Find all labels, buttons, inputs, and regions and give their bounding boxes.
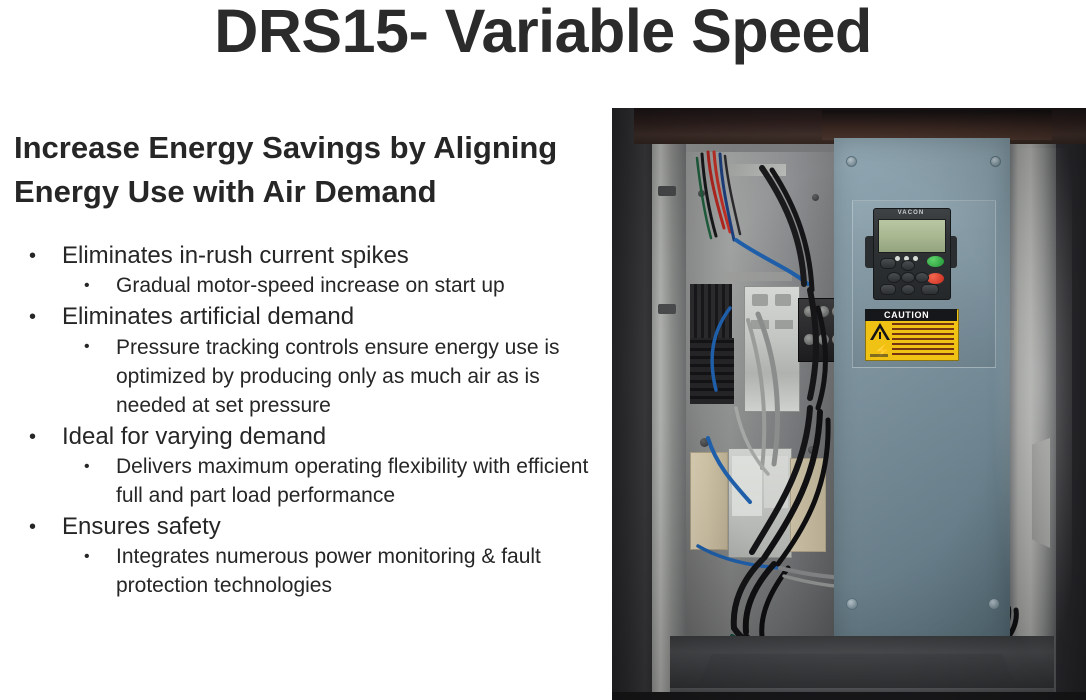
list-item: • Ensures safety	[14, 511, 600, 543]
list-item-label: Pressure tracking controls ensure energy…	[116, 334, 600, 421]
nav-up-button[interactable]	[901, 260, 915, 271]
nav-enter-button[interactable]	[901, 272, 915, 283]
list-item: • Eliminates in-rush current spikes	[14, 240, 600, 272]
list-item-label: Ensures safety	[62, 511, 600, 543]
function-right-button[interactable]	[921, 284, 939, 295]
list-item: • Eliminates artificial demand	[14, 301, 600, 333]
list-item-label: Eliminates in-rush current spikes	[62, 240, 600, 272]
warning-exclamation-icon	[879, 332, 881, 339]
list-item: • Delivers maximum operating flexibility…	[14, 453, 600, 511]
bullet-point-icon: •	[29, 517, 36, 537]
cabinet-bottom-shadow	[612, 692, 1086, 700]
bullet-point-icon: •	[29, 307, 36, 327]
nav-left-button[interactable]	[887, 272, 901, 283]
vfd-screw	[846, 598, 858, 610]
list-item: • Gradual motor-speed increase on start …	[14, 272, 600, 301]
keypad-lcd-display	[878, 219, 946, 253]
vfd-cabinet-photo: VACON CAUTION ⚡	[612, 108, 1086, 700]
photo-highlight	[992, 148, 1072, 668]
list-item: • Pressure tracking controls ensure ener…	[14, 334, 600, 421]
status-led	[895, 256, 900, 261]
bullet-point-icon: •	[29, 427, 36, 447]
stop-button[interactable]	[927, 273, 944, 284]
status-led	[913, 256, 918, 261]
caution-body-text	[892, 323, 954, 357]
list-item: • Integrates numerous power monitoring &…	[14, 543, 600, 601]
vfd-screw	[846, 156, 857, 167]
reset-button[interactable]	[880, 258, 896, 269]
bullet-point-icon: •	[84, 459, 90, 475]
start-button[interactable]	[927, 256, 944, 267]
nav-down-button[interactable]	[901, 284, 915, 295]
caution-title: CAUTION	[884, 310, 957, 321]
caution-footnote	[870, 354, 888, 357]
list-item-label: Gradual motor-speed increase on start up	[116, 272, 600, 301]
nav-right-button[interactable]	[915, 272, 929, 283]
bullet-point-icon: •	[29, 246, 36, 266]
bullet-point-icon: •	[84, 278, 90, 294]
bullet-point-icon: •	[84, 339, 90, 355]
function-left-button[interactable]	[880, 284, 896, 295]
list-item-label: Ideal for varying demand	[62, 421, 600, 453]
page-title: DRS15- Variable Speed	[0, 0, 1086, 66]
bullet-list: • Eliminates in-rush current spikes • Gr…	[14, 240, 600, 601]
list-item-label: Delivers maximum operating flexibility w…	[116, 453, 600, 511]
vacon-brand-label: VACON	[873, 210, 949, 216]
subheading: Increase Energy Savings by Aligning Ener…	[14, 126, 574, 214]
list-item-label: Eliminates artificial demand	[62, 301, 600, 333]
list-item-label: Integrates numerous power monitoring & f…	[116, 543, 600, 601]
list-item: • Ideal for varying demand	[14, 421, 600, 453]
bullet-point-icon: •	[84, 549, 90, 565]
content-column: Increase Energy Savings by Aligning Ener…	[14, 126, 600, 601]
